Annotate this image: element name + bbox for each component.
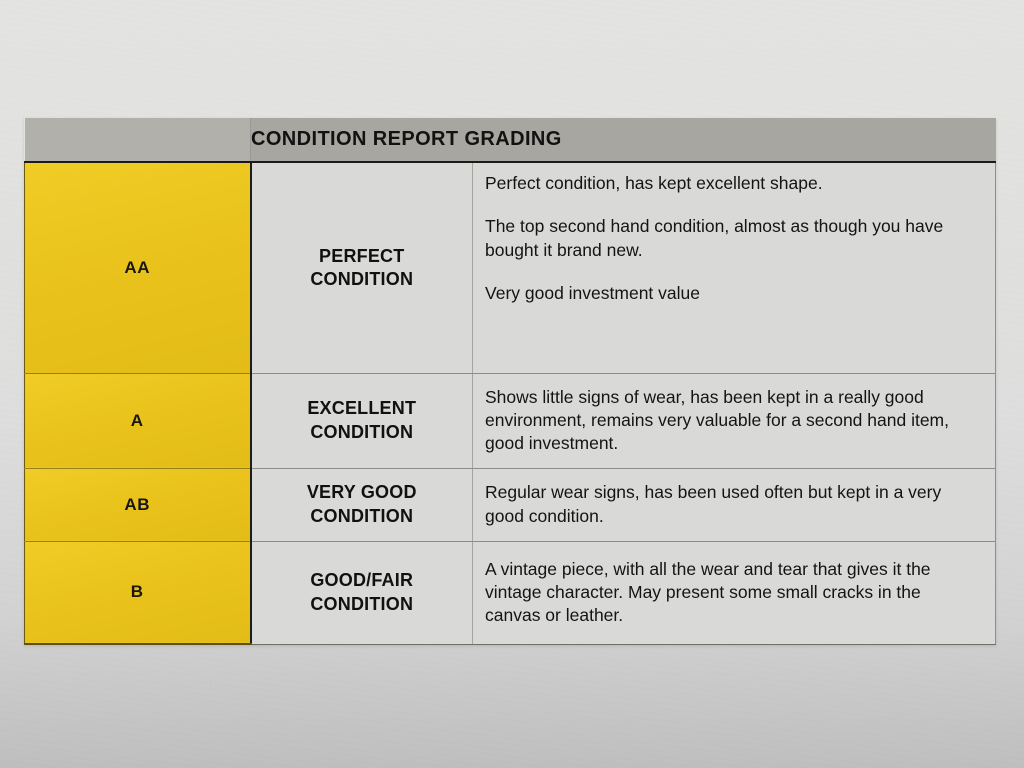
grade-title-cell: VERY GOOD CONDITION (251, 468, 473, 541)
grade-code-cell: AA (25, 162, 251, 373)
grade-code-cell: B (25, 541, 251, 644)
grade-title-cell: GOOD/FAIR CONDITION (251, 541, 473, 644)
description-paragraph: The top second hand condition, almost as… (485, 215, 981, 262)
grade-title-cell: EXCELLENT CONDITION (251, 373, 473, 468)
description-paragraph: Shows little signs of wear, has been kep… (485, 386, 981, 456)
description-paragraph: A vintage piece, with all the wear and t… (485, 558, 981, 628)
grade-description-cell: Perfect condition, has kept excellent sh… (473, 162, 996, 373)
table-title: CONDITION REPORT GRADING (251, 118, 996, 162)
grade-code-cell: A (25, 373, 251, 468)
grade-title-line2: CONDITION (252, 268, 473, 291)
description-paragraph: Regular wear signs, has been used often … (485, 481, 981, 528)
grade-title-cell: PERFECT CONDITION (251, 162, 473, 373)
table-row: A EXCELLENT CONDITION Shows little signs… (25, 373, 996, 468)
description-paragraph: Perfect condition, has kept excellent sh… (485, 172, 981, 195)
header-spacer-cell (25, 118, 251, 162)
grade-title-line1: EXCELLENT (252, 397, 473, 420)
grade-description-cell: A vintage piece, with all the wear and t… (473, 541, 996, 644)
grade-title-line1: GOOD/FAIR (252, 569, 473, 592)
grade-description-cell: Shows little signs of wear, has been kep… (473, 373, 996, 468)
grade-title-line1: VERY GOOD (252, 481, 473, 504)
table-row: AA PERFECT CONDITION Perfect condition, … (25, 162, 996, 373)
table-header-row: CONDITION REPORT GRADING (25, 118, 996, 162)
grade-title-line2: CONDITION (252, 421, 473, 444)
grade-code-cell: AB (25, 468, 251, 541)
grade-title-line1: PERFECT (252, 245, 473, 268)
grade-title-line2: CONDITION (252, 593, 473, 616)
table-row: AB VERY GOOD CONDITION Regular wear sign… (25, 468, 996, 541)
condition-report-grading-table: CONDITION REPORT GRADING AA PERFECT COND… (24, 118, 996, 645)
grade-description-cell: Regular wear signs, has been used often … (473, 468, 996, 541)
table-row: B GOOD/FAIR CONDITION A vintage piece, w… (25, 541, 996, 644)
description-paragraph: Very good investment value (485, 282, 981, 305)
grade-title-line2: CONDITION (252, 505, 473, 528)
